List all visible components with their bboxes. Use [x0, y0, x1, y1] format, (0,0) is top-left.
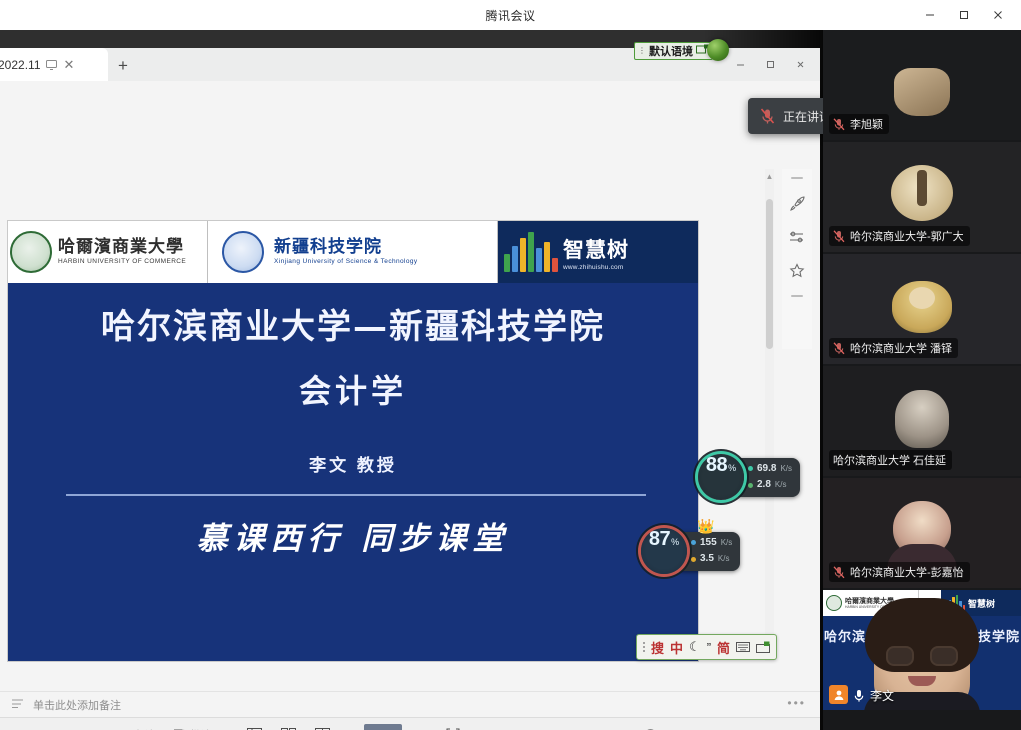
ime-toolbox-icon[interactable]: [756, 641, 770, 653]
mic-muted-icon: [833, 118, 845, 131]
monitor-icon: [46, 60, 57, 70]
slide-sorter-button[interactable]: [276, 724, 300, 730]
rail-expand-handle[interactable]: [791, 295, 803, 297]
mic-muted-icon: [833, 566, 845, 579]
harbin-seal-icon: [10, 231, 52, 273]
ppt-side-rail: [782, 169, 812, 349]
ppt-maximize-button[interactable]: [756, 52, 784, 78]
ime-context-label: 默认语境: [649, 43, 693, 59]
maximize-button[interactable]: [947, 0, 981, 30]
participant-name-chip: 李旭颖: [829, 114, 889, 134]
presenter-mouth: [908, 676, 936, 686]
speaking-toast-label: 正在讲话:: [783, 108, 823, 125]
upload-rate-unit: K/s: [780, 463, 792, 475]
window-controls: [913, 0, 1015, 30]
rate-row-download-b: 3.5 K/s: [691, 552, 732, 567]
ime-mode-chinese-icon[interactable]: 中: [670, 638, 683, 657]
scrollbar-thumb[interactable]: [766, 199, 773, 349]
notes-placeholder: 单击此处添加备注: [33, 697, 121, 713]
participant-name-chip: 哈尔滨商业大学-彭嘉怡: [829, 562, 970, 582]
performance-ring-88: 88 %: [698, 454, 744, 500]
ime-keyboard-icon[interactable]: [736, 642, 750, 652]
download-dot-icon: [748, 483, 753, 488]
performance-widget-cpu[interactable]: 88 % 69.8 K/s 2.8 K/s: [698, 454, 800, 500]
slide-subtitle: 会计学: [8, 366, 698, 412]
logo-harbin: 哈爾濱商業大學 HARBIN UNIVERSITY OF COMMERCE: [8, 221, 208, 283]
ime-drag-handle[interactable]: [643, 642, 645, 652]
minimize-button[interactable]: [913, 0, 947, 30]
document-tab-label: 2022.11: [0, 58, 41, 72]
slide-logo-band: 哈爾濱商業大學 HARBIN UNIVERSITY OF COMMERCE 新疆…: [8, 221, 698, 283]
mini-zhihuishu-label: 智慧树: [968, 597, 995, 610]
harbin-logo-en: HARBIN UNIVERSITY OF COMMERCE: [58, 258, 186, 265]
upload-rate-unit-b: K/s: [721, 537, 733, 549]
status-notes-label: 备注: [134, 727, 156, 730]
slide-title: 哈尔滨商业大学—新疆科技学院: [8, 299, 698, 348]
powerpoint-window: 2022.11 ✕ +: [0, 48, 820, 730]
ime-grip-icon: ⋮: [638, 48, 646, 54]
window-title-bar: 腾讯会议: [0, 0, 1021, 30]
reading-view-button[interactable]: [310, 724, 334, 730]
slideshow-play-button[interactable]: [364, 724, 402, 730]
participant-panel: 李旭颖 哈尔滨商业大学-郭广大: [823, 30, 1021, 730]
participant-name: 哈尔滨商业大学 潘铎: [850, 340, 952, 356]
shared-screen-area: 2022.11 ✕ +: [0, 30, 823, 730]
xinjiang-seal-icon: [222, 231, 264, 273]
document-tab[interactable]: 2022.11 ✕: [0, 48, 108, 81]
host-badge: [829, 685, 848, 704]
participant-name-chip: 哈尔滨商业大学-郭广大: [829, 226, 970, 246]
normal-view-button[interactable]: [242, 724, 266, 730]
xinjiang-logo-en: Xinjiang University of Science & Technol…: [274, 258, 418, 265]
performance-percent-unit: %: [728, 463, 736, 473]
notes-bar[interactable]: 单击此处添加备注: [0, 691, 820, 717]
participant-name-chip: 哈尔滨商业大学 石佳延: [829, 450, 952, 470]
ppt-minimize-button[interactable]: [726, 52, 754, 78]
slide-divider: [66, 494, 646, 496]
mic-muted-icon: [760, 108, 774, 124]
participant-name: 哈尔滨商业大学-彭嘉怡: [850, 564, 964, 580]
glasses-icon: [886, 646, 958, 666]
slide-stage: 哈爾濱商業大學 HARBIN UNIVERSITY OF COMMERCE 新疆…: [0, 81, 778, 661]
upload-rate-value-b: 155: [700, 536, 717, 551]
self-name: 李文: [870, 687, 894, 704]
slide-author: 李文 教授: [8, 451, 698, 476]
mic-muted-icon: [833, 342, 845, 355]
participant-name: 李旭颖: [850, 116, 883, 132]
performance-percent-value: 88: [706, 454, 727, 477]
performance-widget-network[interactable]: 87 % 👑 155 K/s 3.5 K/s: [641, 528, 740, 574]
upload-dot-icon: [748, 466, 753, 471]
crown-icon: 👑: [697, 518, 714, 535]
mini-seal-icon: [826, 595, 842, 611]
participant-name-chip: 哈尔滨商业大学 潘铎: [829, 338, 958, 358]
meeting-main-row: 2022.11 ✕ +: [0, 30, 1021, 730]
notes-icon: [12, 698, 25, 712]
star-icon[interactable]: [787, 261, 807, 281]
harbin-logo-cn: 哈爾濱商業大學: [58, 238, 186, 258]
ime-moon-icon[interactable]: ☾: [689, 639, 701, 655]
ime-quotes-icon[interactable]: ”: [707, 640, 711, 655]
notes-overflow-button[interactable]: •••: [787, 696, 806, 710]
zhihuishu-logo-cn: 智慧树: [563, 234, 629, 264]
status-notes-button[interactable]: 备注 ▾: [117, 727, 164, 730]
zoom-in-button[interactable]: +: [681, 726, 703, 730]
self-video-tile[interactable]: 哈爾濱商業大學 HARBIN UNIVERSITY OF COMMERCE: [823, 590, 1021, 710]
participant-tile[interactable]: 哈尔滨商业大学-彭嘉怡: [823, 478, 1021, 588]
ppt-close-button[interactable]: [786, 52, 814, 78]
download-rate-value-b: 3.5: [700, 552, 714, 567]
slide-canvas[interactable]: 哈爾濱商業大學 HARBIN UNIVERSITY OF COMMERCE 新疆…: [8, 221, 698, 661]
xinjiang-logo-cn: 新疆科技学院: [274, 238, 418, 258]
slide-slogan: 慕课西行 同步课堂: [8, 513, 698, 558]
ime-simplified-icon[interactable]: 简: [717, 638, 730, 657]
window-title: 腾讯会议: [485, 7, 535, 24]
scroll-up-arrow[interactable]: ▲: [765, 169, 774, 183]
ppt-slide-area: 哈爾濱商業大學 HARBIN UNIVERSITY OF COMMERCE 新疆…: [0, 81, 820, 691]
ppt-window-controls: [726, 48, 820, 81]
participant-name: 哈尔滨商业大学-郭广大: [850, 228, 964, 244]
close-tab-icon[interactable]: ✕: [62, 57, 77, 73]
participant-tile[interactable]: 哈尔滨商业大学 潘铎: [823, 254, 1021, 364]
status-comments-button[interactable]: 批注: [173, 727, 212, 730]
participant-name: 哈尔滨商业大学 石佳延: [833, 452, 946, 468]
participant-tile[interactable]: 李旭颖: [823, 30, 1021, 140]
close-button[interactable]: [981, 0, 1015, 30]
logo-xinjiang: 新疆科技学院 Xinjiang University of Science & …: [208, 221, 498, 283]
upload-dot-icon-b: [691, 540, 696, 545]
participant-tile[interactable]: 哈尔滨商业大学-郭广大: [823, 142, 1021, 252]
rate-row-download: 2.8 K/s: [748, 478, 792, 493]
tencent-meeting-window: 腾讯会议 2022.11: [0, 0, 1021, 730]
ime-context-badge[interactable]: ⋮ 默认语境: [634, 42, 713, 60]
slide-vertical-scrollbar[interactable]: ▲ ▼: [765, 169, 774, 661]
mic-muted-icon: [833, 230, 845, 243]
performance-percent-unit-b: %: [671, 537, 679, 547]
self-name-chip: 李文: [853, 687, 894, 704]
rate-row-upload-b: 155 K/s: [691, 536, 732, 551]
download-rate-value: 2.8: [757, 478, 771, 493]
sogou-logo-icon[interactable]: 搜: [651, 638, 664, 657]
zoom-out-button[interactable]: −: [515, 726, 537, 730]
logo-zhihuishu: 智慧树 www.zhihuishu.com: [498, 221, 698, 283]
performance-percent-value-b: 87: [649, 528, 670, 551]
upload-rate-value: 69.8: [757, 462, 776, 477]
zhihuishu-bars-icon: [504, 232, 558, 272]
speaking-toast: 正在讲话:: [748, 98, 823, 134]
sliders-icon[interactable]: [787, 227, 807, 247]
ime-status-orb-icon[interactable]: [707, 39, 729, 61]
mic-active-icon: [853, 689, 865, 702]
ppt-status-bar: 备注 ▾ 批注: [0, 717, 820, 730]
status-comments-label: 批注: [190, 727, 212, 730]
zhihuishu-url: www.zhihuishu.com: [563, 264, 623, 271]
rail-collapse-handle[interactable]: [791, 177, 803, 179]
rate-row-upload: 69.8 K/s: [748, 462, 792, 477]
performance-ring-87: 87 %: [641, 528, 687, 574]
rocket-icon[interactable]: [787, 193, 807, 213]
new-tab-button[interactable]: +: [108, 51, 138, 81]
ime-toolbar[interactable]: 搜 中 ☾ ” 简: [636, 634, 777, 660]
participant-tile[interactable]: 哈尔滨商业大学 石佳延: [823, 366, 1021, 476]
download-rate-unit-b: K/s: [718, 553, 730, 565]
download-rate-unit: K/s: [775, 479, 787, 491]
download-dot-icon-b: [691, 557, 696, 562]
